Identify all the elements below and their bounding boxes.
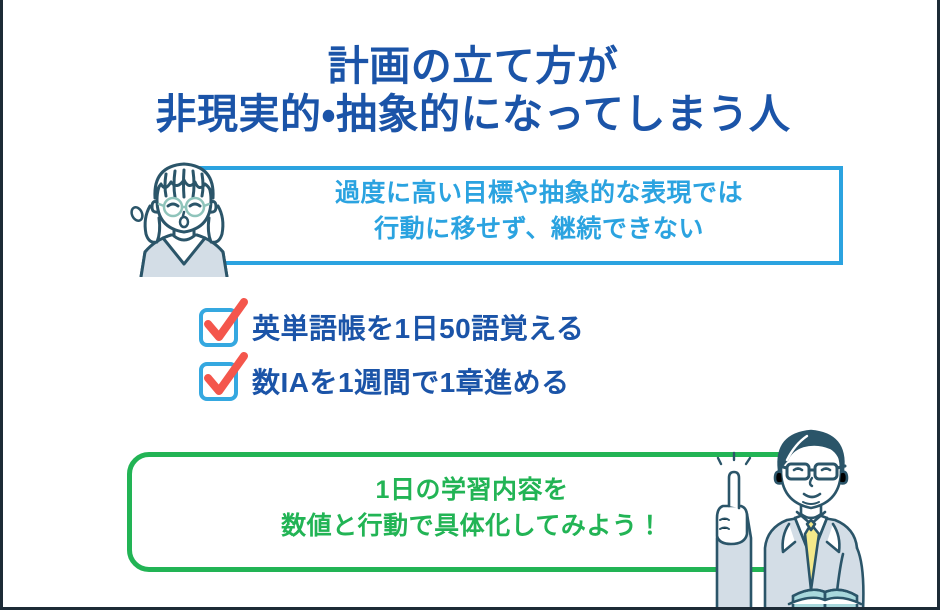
worried-schoolgirl-illustration [119, 152, 249, 277]
problem-statement-line-1: 過度に高い目標や抽象的な表現では [239, 176, 839, 212]
checkbox-checked-icon[interactable] [199, 362, 238, 401]
problem-statement-text: 過度に高い目標や抽象的な表現では 行動に移せず、継続できない [239, 176, 839, 247]
pointing-teacher-illustration [707, 420, 897, 610]
checklist-item[interactable]: 英単語帳を1日50語覚える [199, 300, 799, 354]
problem-statement-line-2: 行動に移せず、継続できない [239, 212, 839, 248]
slide-canvas: 計画の立て方が 非現実的・抽象的になってしまう人 過度に高い目標や抽象的な表現で… [0, 0, 940, 610]
checklist: 英単語帳を1日50語覚える 数IAを1週間で1章進める [199, 300, 799, 408]
checklist-item-label: 英単語帳を1日50語覚える [252, 307, 584, 347]
page-title-line-2: 非現実的・抽象的になってしまう人 [3, 90, 940, 138]
checklist-item[interactable]: 数IAを1週間で1章進める [199, 354, 799, 408]
page-title-line-1: 計画の立て方が [3, 42, 940, 90]
checkbox-checked-icon[interactable] [199, 308, 238, 347]
page-title: 計画の立て方が 非現実的・抽象的になってしまう人 [3, 42, 940, 139]
checklist-item-label: 数IAを1週間で1章進める [252, 361, 570, 401]
